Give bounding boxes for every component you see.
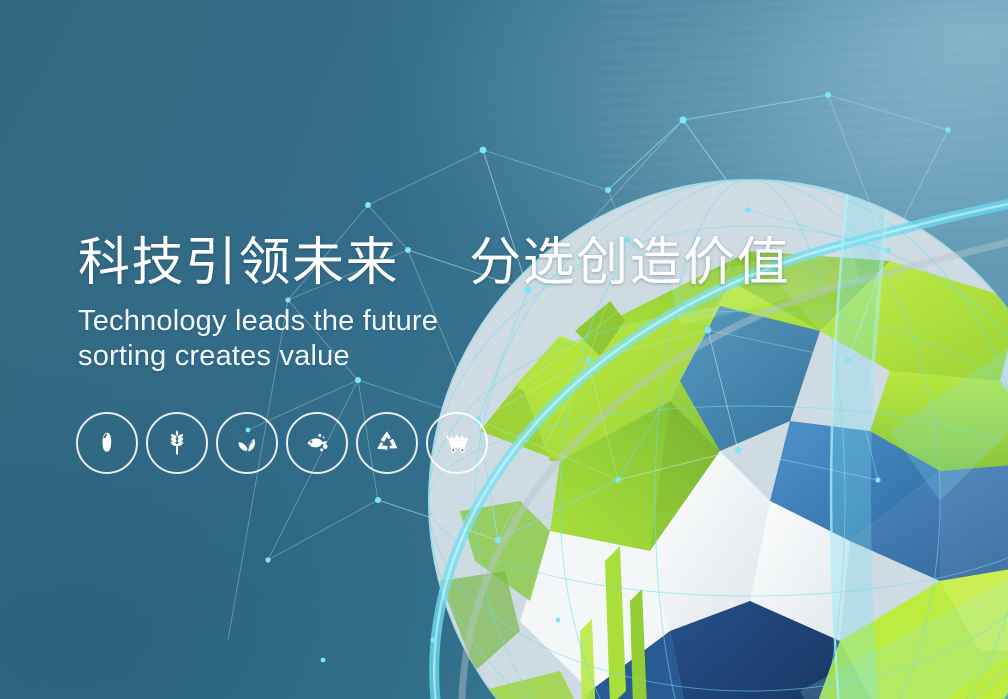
- mining-cart-icon: [440, 428, 474, 458]
- wheat-ear-icon: [161, 427, 193, 459]
- low-poly-globe: [420, 131, 1008, 699]
- hero-banner: 科技引领未来 分选创造价值 Technology leads the futur…: [0, 0, 1008, 699]
- subtitle-line-2: sorting creates value: [78, 339, 790, 374]
- hero-subtitle: Technology leads the future sorting crea…: [78, 304, 790, 375]
- industry-icon-row: [76, 412, 488, 474]
- industry-icon-rice-grain[interactable]: [76, 412, 138, 474]
- industry-icon-tea-leaf[interactable]: [216, 412, 278, 474]
- subtitle-line-1: Technology leads the future: [78, 304, 790, 339]
- recycle-icon: [372, 428, 402, 458]
- industry-icon-recycle[interactable]: [356, 412, 418, 474]
- rice-grain-icon: [92, 428, 122, 458]
- page-title: 科技引领未来 分选创造价值: [78, 236, 790, 291]
- fish-icon: [301, 428, 333, 458]
- industry-icon-fish[interactable]: [286, 412, 348, 474]
- industry-icon-wheat[interactable]: [146, 412, 208, 474]
- headline-primary: 科技引领未来: [78, 233, 399, 293]
- industry-icon-mining-cart[interactable]: [426, 412, 488, 474]
- headline-secondary: 分选创造价值: [469, 233, 790, 293]
- hero-copy: 科技引领未来 分选创造价值 Technology leads the futur…: [78, 236, 790, 375]
- tea-leaf-icon: [231, 428, 263, 458]
